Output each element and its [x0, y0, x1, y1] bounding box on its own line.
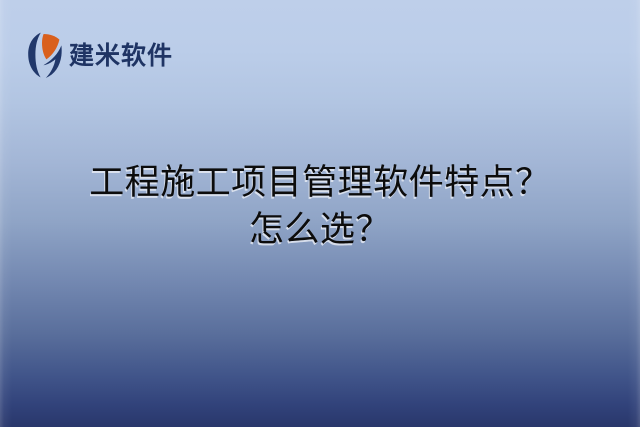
page-title-line-2: 怎么选？ — [24, 207, 616, 254]
page-title-line-1: 工程施工项目管理软件特点？ — [24, 160, 616, 207]
promo-banner: 建米软件 工程施工项目管理软件特点？ 怎么选？ — [0, 0, 640, 427]
page-title: 工程施工项目管理软件特点？ 怎么选？ — [0, 160, 640, 254]
brand-logo[interactable]: 建米软件 — [27, 31, 173, 79]
brand-name-text: 建米软件 — [69, 43, 173, 68]
jianmi-logo-mark-icon — [27, 31, 63, 79]
